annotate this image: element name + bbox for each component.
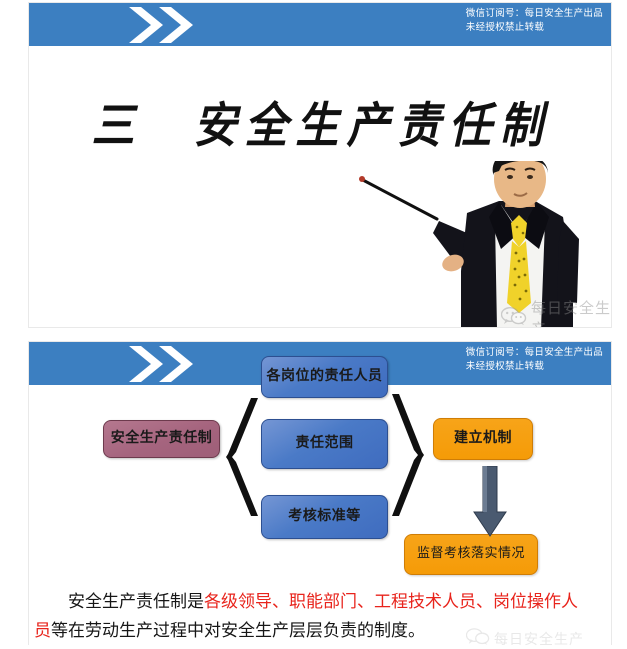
right-curly-brace-icon xyxy=(384,392,426,518)
body-segment-2: 等在劳动生产过程中对安全生产层层负责的制度。 xyxy=(51,621,425,641)
diagram-node-responsible-person[interactable]: 各岗位的责任人员 xyxy=(261,356,388,398)
wechat-watermark-slide-two: 每日安全生产 xyxy=(466,628,584,649)
body-segment-1: 安全生产责任制是 xyxy=(68,592,204,612)
diagram-node-mechanism[interactable]: 建立机制 xyxy=(433,418,533,460)
slide-one-header-bar: 微信订阅号：每日安全生产出品 未经授权禁止转载 xyxy=(29,3,612,46)
wechat-watermark-text: 每日安全生产 xyxy=(494,629,584,649)
copyright-line-2: 未经授权禁止转载 xyxy=(466,360,603,374)
diagram-node-scope[interactable]: 责任范围 xyxy=(261,419,388,469)
diagram-node-safety-system[interactable]: 安全生产责任制 xyxy=(103,420,220,458)
diagram-node-supervision[interactable]: 监督考核落实情况 xyxy=(404,534,538,575)
wechat-watermark-slide-one: 每日安全生产 xyxy=(501,297,611,328)
screenshot-root: 微信订阅号：每日安全生产出品 未经授权禁止转载 三 安全生产责任制 xyxy=(0,0,627,645)
wechat-logo-icon xyxy=(501,307,527,328)
copyright-line-1: 微信订阅号：每日安全生产出品 xyxy=(466,346,603,360)
copyright-line-1: 微信订阅号：每日安全生产出品 xyxy=(466,7,603,21)
double-chevron-right-icon xyxy=(125,5,235,45)
copyright-line-2: 未经授权禁止转载 xyxy=(466,21,603,35)
arrow-down-icon xyxy=(470,466,510,538)
slide-one-copyright-note: 微信订阅号：每日安全生产出品 未经授权禁止转载 xyxy=(466,7,603,35)
double-chevron-right-icon xyxy=(125,344,235,384)
slide-divider xyxy=(0,329,627,341)
slide-one: 微信订阅号：每日安全生产出品 未经授权禁止转载 三 安全生产责任制 xyxy=(28,2,612,328)
left-curly-brace-icon xyxy=(224,396,266,518)
wechat-logo-icon xyxy=(466,628,490,649)
slide-one-title: 三 安全生产责任制 xyxy=(29,87,612,156)
wechat-watermark-text: 每日安全生产 xyxy=(531,297,611,328)
diagram-node-criteria[interactable]: 考核标准等 xyxy=(261,495,388,539)
slide-two-copyright-note: 微信订阅号：每日安全生产出品 未经授权禁止转载 xyxy=(466,346,603,374)
